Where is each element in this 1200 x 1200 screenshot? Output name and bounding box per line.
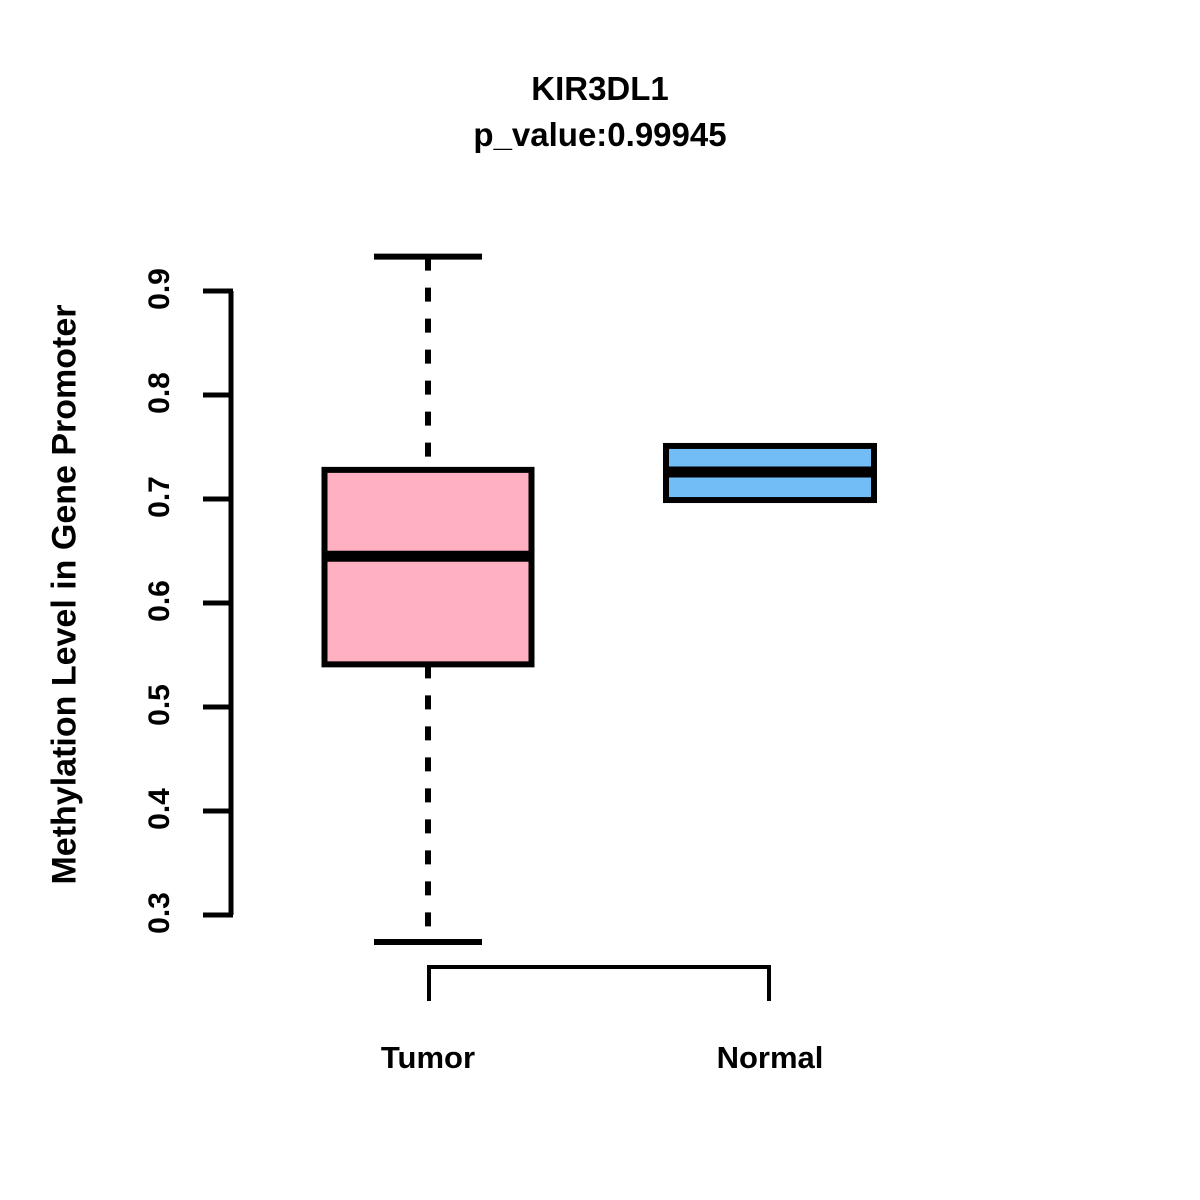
box-normal	[663, 446, 877, 500]
plot-canvas	[0, 0, 1200, 1200]
y-axis	[203, 291, 233, 915]
boxplot-figure: KIR3DL1 p_value:0.99945 Methylation Leve…	[0, 0, 1200, 1200]
x-axis	[428, 965, 770, 1001]
tumor-box-rect	[325, 470, 532, 664]
box-tumor	[322, 257, 535, 942]
